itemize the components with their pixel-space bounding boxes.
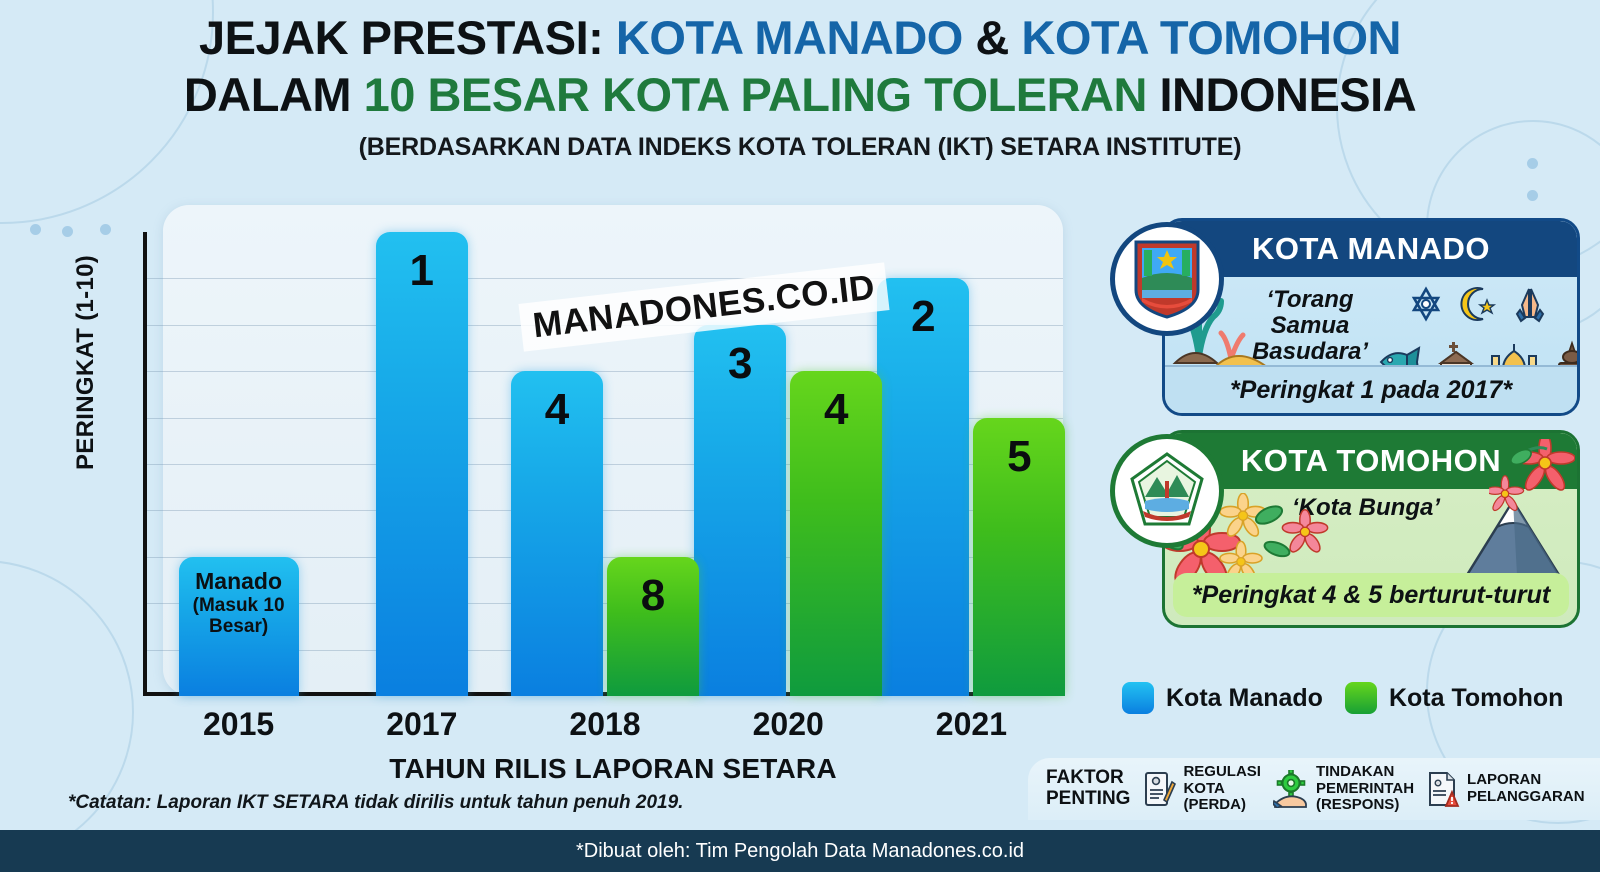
- faktor-item-regulasi: REGULASI KOTA (PERDA): [1142, 764, 1261, 814]
- star-of-david-icon: [1405, 283, 1447, 325]
- gear-hand-icon: [1273, 770, 1309, 808]
- y-axis-label: PERINGKAT (1-10): [72, 255, 100, 470]
- faktor-regulasi-text: REGULASI KOTA (PERDA): [1183, 764, 1261, 814]
- header: JEJAK PRESTASI: KOTA MANADO & KOTA TOMOH…: [0, 14, 1600, 162]
- bar-annotation-2015: Manado(Masuk 10Besar): [179, 569, 299, 637]
- faktor-item-tindakan: TINDAKAN PEMERINTAH (RESPONS): [1273, 764, 1414, 814]
- legend-label-manado: Kota Manado: [1166, 684, 1323, 713]
- bar-kota-manado-2021[interactable]: 2: [877, 278, 969, 696]
- manado-ribbon-note: *Peringkat 1 pada 2017*: [1165, 365, 1577, 413]
- bar-kota-tomohon-2018[interactable]: 8: [607, 557, 699, 696]
- faktor-tindakan-text: TINDAKAN PEMERINTAH (RESPONS): [1316, 764, 1414, 814]
- flower-icon: [1489, 439, 1575, 517]
- title-part-10besar: 10 BESAR KOTA PALING TOLERAN: [364, 68, 1147, 121]
- deco-dot: [100, 224, 111, 235]
- annot-line1: Manado: [195, 568, 282, 594]
- manado-faith-icons-row-1: [1405, 283, 1551, 325]
- faktor-item-laporan: LAPORAN PELANGGARAN: [1426, 770, 1585, 808]
- title-part-indonesia: INDONESIA: [1147, 68, 1416, 121]
- bar-kota-manado-2015[interactable]: Manado(Masuk 10Besar): [179, 557, 299, 696]
- bar-value-label: 4: [790, 385, 882, 435]
- tomohon-ribbon-note: *Peringkat 4 & 5 berturut-turut: [1173, 573, 1569, 617]
- tomohon-coat-of-arms-icon: [1129, 451, 1205, 531]
- manado-card-body: KOTA MANADO ‘Torang Samua Basudara’: [1162, 218, 1580, 416]
- card-kota-manado: KOTA MANADO ‘Torang Samua Basudara’: [1110, 218, 1580, 416]
- x-axis-tick: 2020: [753, 706, 824, 743]
- manado-coat-of-arms-icon: [1130, 238, 1204, 320]
- faktor-regulasi-l1: REGULASI: [1183, 764, 1261, 781]
- manado-card-title: KOTA MANADO: [1165, 221, 1577, 277]
- deco-dot: [62, 226, 73, 237]
- faktor-tindakan-l3: (RESPONS): [1316, 797, 1414, 814]
- x-axis-tick: 2017: [386, 706, 457, 743]
- faktor-regulasi-l3: (PERDA): [1183, 797, 1261, 814]
- praying-hands-icon: [1509, 283, 1551, 325]
- page-title: JEJAK PRESTASI: KOTA MANADO & KOTA TOMOH…: [0, 14, 1600, 62]
- document-warning-icon: [1426, 770, 1460, 808]
- chart-footnote: *Catatan: Laporan IKT SETARA tidak diril…: [68, 792, 683, 814]
- faktor-title-line2: PENTING: [1046, 789, 1130, 810]
- faktor-laporan-text: LAPORAN PELANGGARAN: [1467, 772, 1585, 806]
- city-cards: KOTA MANADO ‘Torang Samua Basudara’: [1110, 218, 1580, 642]
- manado-emblem-icon: [1110, 222, 1224, 336]
- faktor-title-line1: FAKTOR: [1046, 768, 1130, 789]
- legend-label-tomohon: Kota Tomohon: [1389, 684, 1564, 713]
- faktor-tindakan-l2: PEMERINTAH: [1316, 781, 1414, 798]
- x-axis-tick: 2021: [936, 706, 1007, 743]
- faktor-laporan-l1: LAPORAN: [1467, 772, 1585, 789]
- x-axis-tick: 2018: [569, 706, 640, 743]
- x-axis-label: TAHUN RILIS LAPORAN SETARA: [163, 753, 1063, 785]
- footer-bar: *Dibuat oleh: Tim Pengolah Data Manadone…: [0, 830, 1600, 872]
- bar-value-label: 8: [607, 571, 699, 621]
- chart-legend: Kota Manado Kota Tomohon: [1122, 682, 1563, 714]
- document-pencil-icon: [1142, 770, 1176, 808]
- annot-line3: Besar): [179, 616, 299, 637]
- bar-kota-manado-2018[interactable]: 4: [511, 371, 603, 696]
- bar-value-label: 4: [511, 385, 603, 435]
- page-title-line2: DALAM 10 BESAR KOTA PALING TOLERAN INDON…: [0, 71, 1600, 119]
- bar-value-label: 1: [376, 246, 468, 296]
- legend-item-tomohon[interactable]: Kota Tomohon: [1345, 682, 1564, 714]
- bar-kota-tomohon-2021[interactable]: 5: [973, 418, 1065, 696]
- legend-item-manado[interactable]: Kota Manado: [1122, 682, 1323, 714]
- faktor-regulasi-l2: KOTA: [1183, 781, 1261, 798]
- bar-kota-manado-2017[interactable]: 1: [376, 232, 468, 696]
- tomohon-emblem-icon: [1110, 434, 1224, 548]
- bar-kota-tomohon-2020[interactable]: 4: [790, 371, 882, 696]
- bar-value-label: 3: [694, 339, 786, 389]
- legend-swatch-tomohon: [1345, 682, 1377, 714]
- faktor-penting-strip: FAKTOR PENTING REGULASI KOTA (PERDA): [1028, 758, 1600, 820]
- deco-dot: [30, 224, 41, 235]
- deco-dot: [1527, 190, 1538, 201]
- card-kota-tomohon: KOTA TOMOHON ‘Kota Bunga’: [1110, 430, 1580, 628]
- title-part-4: DALAM: [184, 68, 364, 121]
- legend-swatch-manado: [1122, 682, 1154, 714]
- x-axis-tick: 2015: [203, 706, 274, 743]
- deco-circle: [0, 560, 134, 864]
- faktor-laporan-l2: PELANGGARAN: [1467, 789, 1585, 806]
- bar-value-label: 2: [877, 292, 969, 342]
- title-part-amp: &: [963, 11, 1022, 64]
- title-part-tomohon: KOTA TOMOHON: [1021, 11, 1401, 64]
- faktor-tindakan-l1: TINDAKAN: [1316, 764, 1414, 781]
- title-part-1: JEJAK PRESTASI:: [199, 11, 616, 64]
- annot-line2: (Masuk 10: [179, 595, 299, 616]
- title-part-manado: KOTA MANADO: [616, 11, 963, 64]
- bar-value-label: 5: [973, 432, 1065, 482]
- crescent-moon-star-icon: [1457, 283, 1499, 325]
- faktor-title: FAKTOR PENTING: [1046, 768, 1130, 810]
- tomohon-card-body: KOTA TOMOHON ‘Kota Bunga’: [1162, 430, 1580, 628]
- page-subtitle: (BERDASARKAN DATA INDEKS KOTA TOLERAN (I…: [0, 133, 1600, 162]
- footer-credit: *Dibuat oleh: Tim Pengolah Data Manadone…: [576, 840, 1024, 863]
- bar-kota-manado-2020[interactable]: 3: [694, 325, 786, 696]
